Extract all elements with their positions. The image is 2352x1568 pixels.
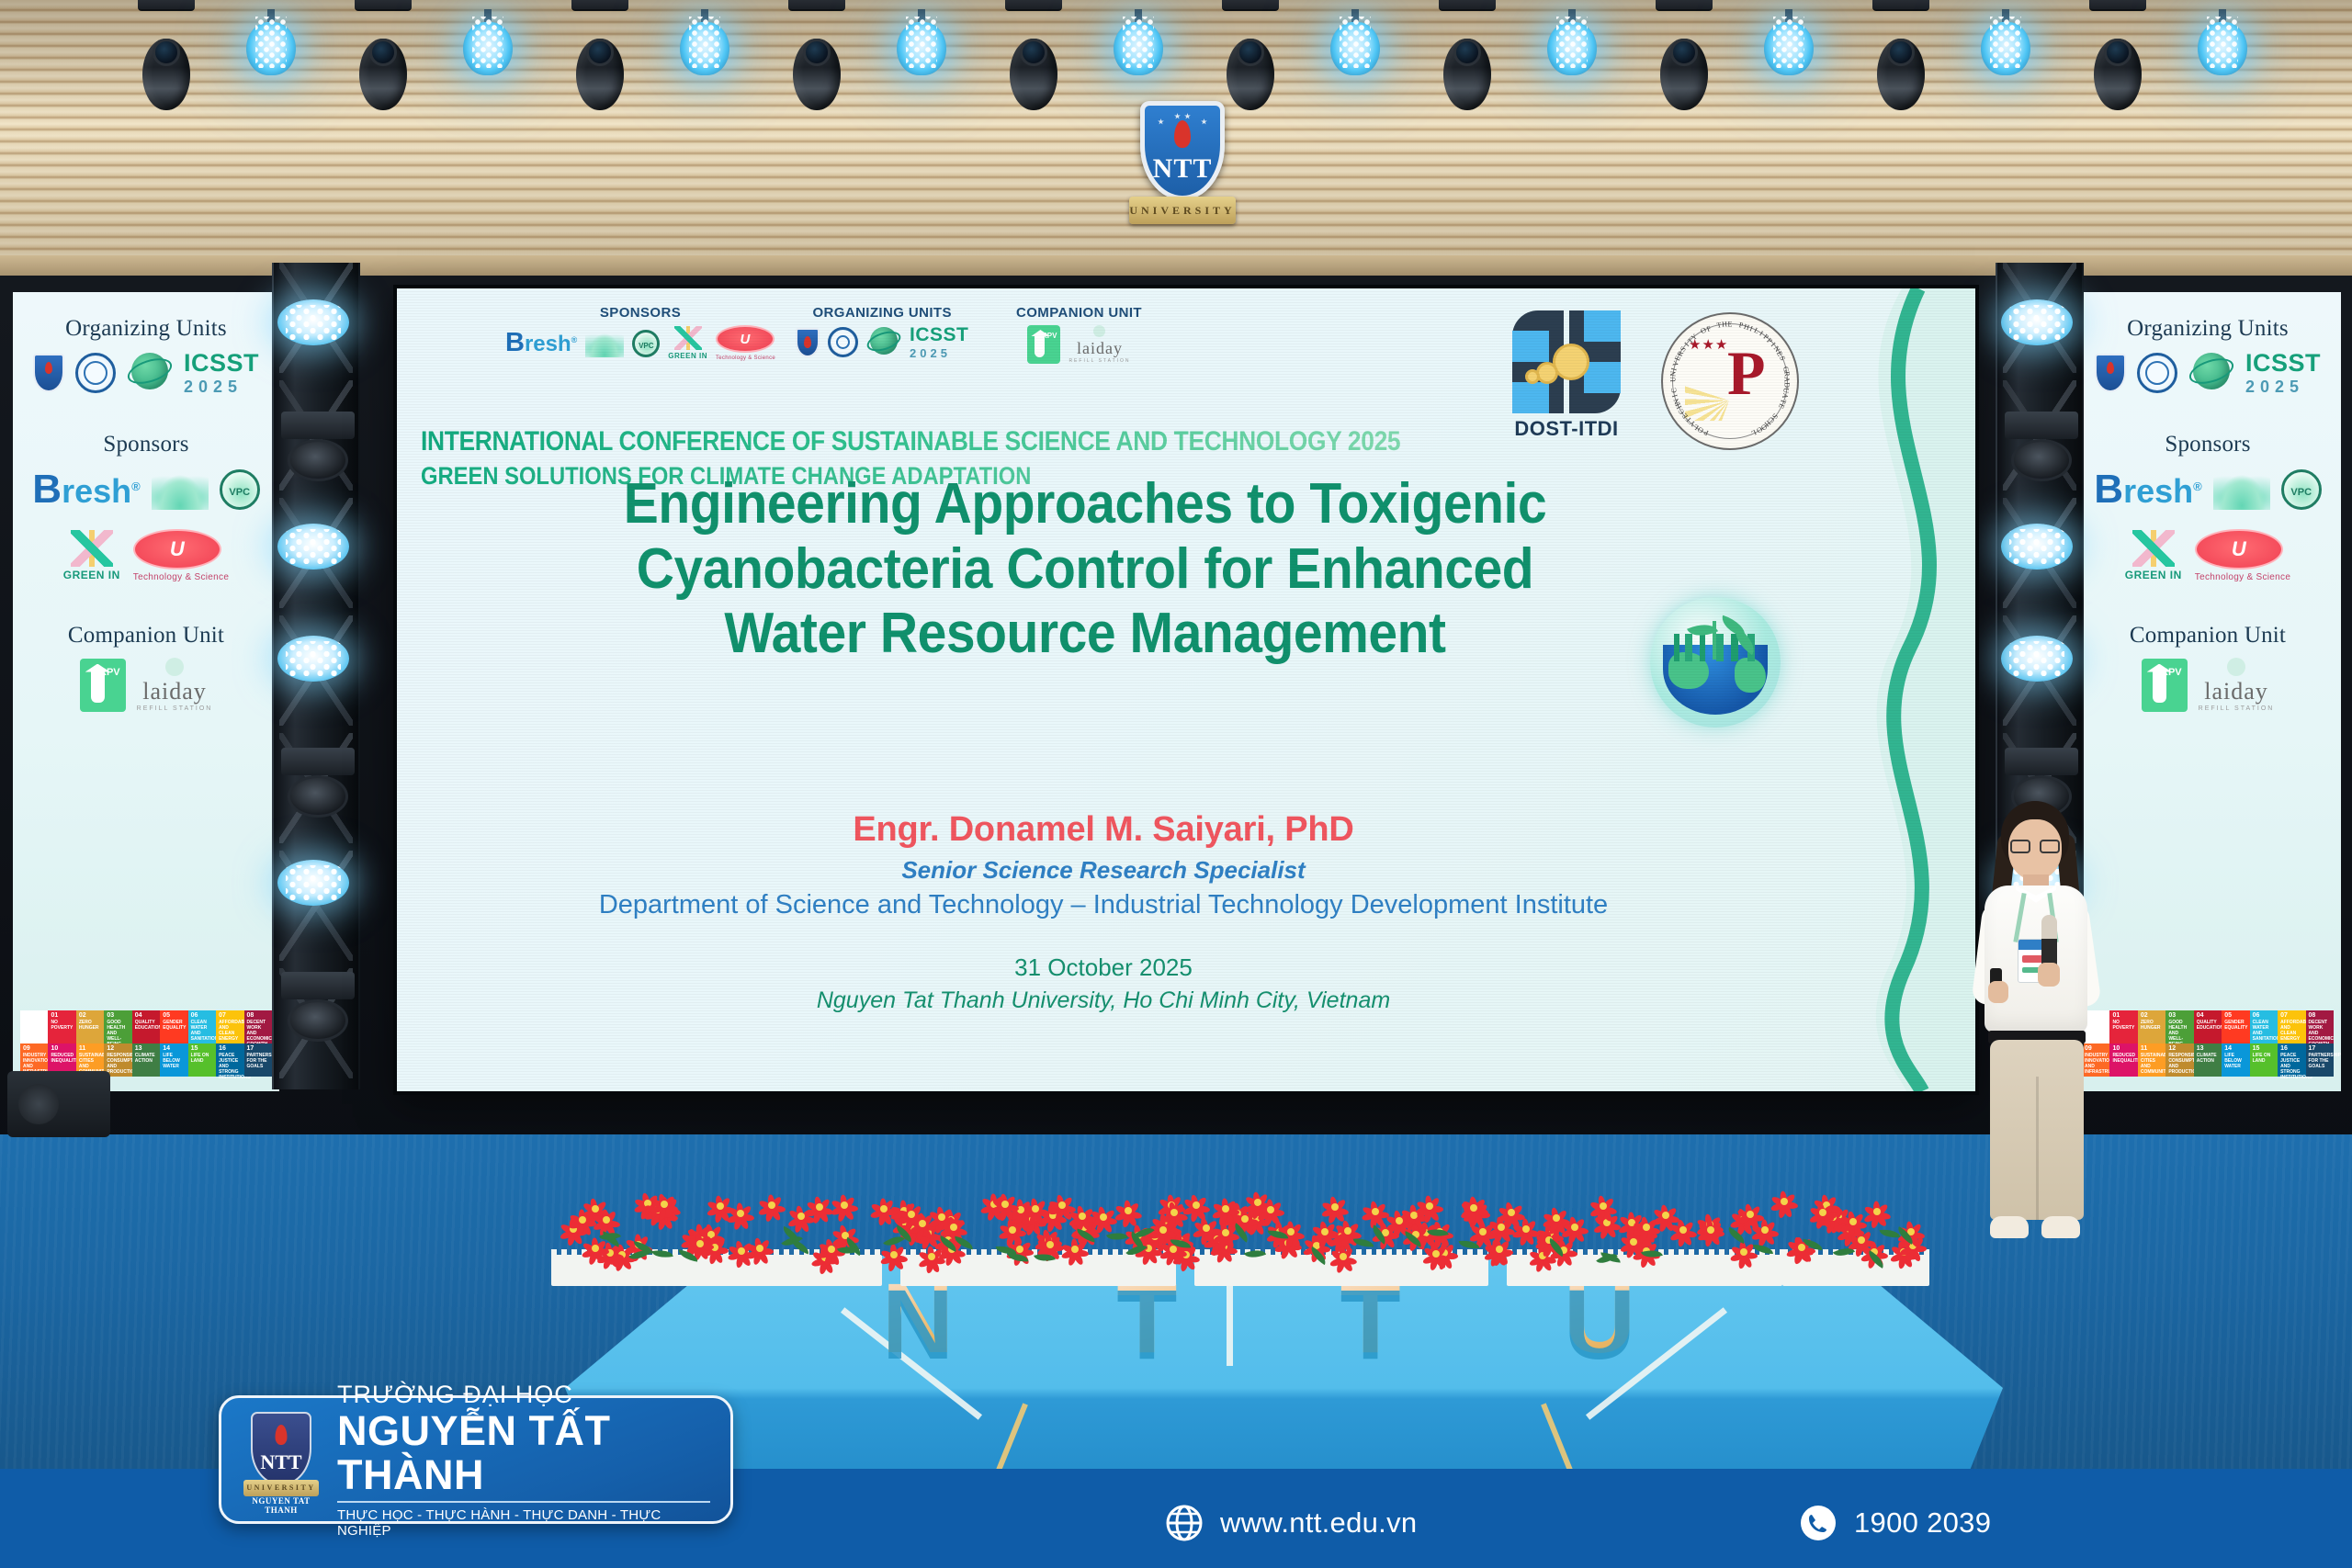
side-heading-companion-r: Companion Unit [2075, 623, 2341, 649]
sdg-goal-tile: 16PEACE JUSTICE AND STRONG INSTITUTIONS [216, 1043, 243, 1077]
vpc-leaf-logo: VPC [632, 330, 660, 357]
sdg-goal-tile: 05GENDER EQUALITY [2222, 1010, 2249, 1043]
flower [1652, 1201, 1679, 1229]
led-presentation-screen: SPONSORS Bresh® VPC GREEN IN U Technolog… [397, 288, 1975, 1091]
ntt-shield-icon: NTT UNIVERSITY NGUYEN TAT THANH [242, 1410, 321, 1509]
sdg-goal-tile: 08DECENT WORK AND ECONOMIC GROWTH [244, 1010, 272, 1043]
icsst-globe-logo [2188, 353, 2234, 393]
sdg-goal-tile: 06CLEAN WATER AND SANITATION [188, 1010, 216, 1043]
glasses-icon [2010, 840, 2060, 853]
moving-head-light [2089, 0, 2146, 110]
shoe-left [1990, 1216, 2029, 1238]
truss-par-light [277, 636, 355, 693]
sdg-goal-tile: 13CLIMATE ACTION [132, 1043, 160, 1077]
flower [1809, 1199, 1837, 1226]
flower [707, 1192, 734, 1220]
dost-itdi-label: DOST-ITDI [1488, 417, 1645, 441]
par-led-light [246, 9, 296, 75]
sdg-goal-tile: 15LIFE ON LAND [2250, 1043, 2278, 1077]
laiday-logo: laiday REFILL STATION [137, 658, 213, 712]
speaker-role: Senior Science Research Specialist [461, 856, 1746, 885]
sdg-goal-tile: 03GOOD HEALTH AND WELL-BEING [2165, 1010, 2193, 1043]
crest-flame-icon [1174, 120, 1191, 148]
par-led-light [1547, 9, 1597, 75]
truss-par-light [2001, 299, 2078, 356]
moving-head-light [788, 0, 845, 110]
flower [1839, 1208, 1867, 1235]
par-led-light [463, 9, 513, 75]
university-motto: THỰC HỌC - THỰC HÀNH - THỰC DANH - THỰC … [337, 1507, 710, 1539]
flower [999, 1216, 1026, 1244]
bresh-logo: Bresh® [32, 467, 140, 513]
sdg-goal-tile: 04QUALITY EDUCATION [2194, 1010, 2222, 1043]
stage-letter: T [1116, 1272, 1177, 1373]
flower [1416, 1192, 1443, 1220]
truss-par-light [277, 524, 355, 581]
moving-head-light [1222, 0, 1279, 110]
viet-nguyen-logo: U Technology & Science [133, 529, 229, 582]
flower [1512, 1215, 1540, 1243]
par-led-light [1764, 9, 1814, 75]
eco-globe-graphic [1650, 597, 1781, 728]
footer-phone[interactable]: 1900 2039 [1799, 1504, 1991, 1542]
par-led-light [1114, 9, 1163, 75]
seal-logo [75, 353, 116, 393]
pup-graduate-school-seal: ★★★ P POLYTECHNIC UNIVERSITY OF THE PHIL… [1661, 312, 1799, 450]
conference-stage-photo: NTT UNIVERSITY Organizing Units ICSST 20… [0, 0, 2352, 1568]
viet-nguyen-logo: U Technology & Science [716, 325, 775, 361]
truss-moving-head-light [281, 972, 355, 1043]
speaker-name: Engr. Donamel M. Saiyari, PhD [461, 810, 1746, 850]
green-in-logo: GREEN IN [63, 530, 120, 581]
phone-label: 1900 2039 [1854, 1506, 1991, 1540]
flower [650, 1190, 678, 1218]
title-line-2: Cyanobacteria Control for Enhanced [511, 537, 1658, 603]
vpc-leaf-logo: VPC [220, 469, 260, 510]
sdg-goal-tile: 02ZERO HUNGER [2138, 1010, 2165, 1043]
flower [1863, 1198, 1891, 1225]
shoe-right [2041, 1216, 2080, 1238]
ntt-wall-crest: NTT UNIVERSITY [1127, 101, 1238, 239]
side-heading-sponsors-r: Sponsors [2075, 432, 2341, 457]
moving-head-light [1656, 0, 1713, 110]
sdg-goal-tile: 07AFFORDABLE AND CLEAN ENERGY [216, 1010, 243, 1043]
sdg-goal-tile: 04QUALITY EDUCATION [132, 1010, 160, 1043]
flower [1311, 1218, 1339, 1246]
sdg-goal-tile: 11SUSTAINABLE CITIES AND COMMUNITIES [2138, 1043, 2165, 1077]
laiday-logo: laiday REFILL STATION [2199, 658, 2275, 712]
flower [991, 1190, 1019, 1218]
bresh-logo: Bresh® [2094, 467, 2201, 513]
viet-nguyen-logo: U Technology & Science [2195, 529, 2290, 582]
university-line-1: TRƯỜNG ĐẠI HỌC [337, 1381, 710, 1409]
moving-head-light [571, 0, 628, 110]
flower [1770, 1188, 1798, 1215]
rpv-logo: RPV [2142, 659, 2188, 712]
dost-itdi-logo: DOST-ITDI [1488, 310, 1645, 441]
sdg-goal-tile: 17PARTNERSHIPS FOR THE GOALS [244, 1043, 272, 1077]
moving-head-light [355, 0, 412, 110]
truss-par-light [2001, 524, 2078, 581]
icsst-year: 2025 [184, 378, 259, 395]
sdg-goal-tile: 06CLEAN WATER AND SANITATION [2250, 1010, 2278, 1043]
stage-monitor-speaker [7, 1038, 118, 1139]
flower [1048, 1191, 1076, 1219]
ceiling-light-rig [0, 0, 2352, 105]
moving-head-light [138, 0, 195, 110]
seal-logo [828, 327, 858, 357]
header-group-companion: COMPANION UNIT RPV laiday REFILL STATION [1016, 305, 1142, 364]
university-line-2: NGUYỄN TẤT THÀNH [337, 1409, 710, 1496]
green-in-logo: GREEN IN [668, 326, 707, 360]
flower [880, 1241, 908, 1269]
flower [1160, 1199, 1188, 1226]
bresh-logo: Bresh® [505, 328, 577, 358]
title-line-3: Water Resource Management [511, 602, 1658, 667]
side-heading-organizing: Organizing Units [13, 316, 279, 342]
truss-moving-head-light [281, 748, 355, 819]
website-label: www.ntt.edu.vn [1220, 1506, 1417, 1540]
nttu-stage-letters: NTTU [882, 1272, 1635, 1373]
seal-ring-text: POLYTECHNIC UNIVERSITY OF THE PHILIPPINE… [1661, 312, 1799, 450]
gear-icon [1536, 362, 1558, 384]
flower [1321, 1193, 1349, 1221]
flower [1736, 1201, 1764, 1228]
flower [1329, 1243, 1357, 1270]
flower [1061, 1235, 1089, 1263]
flower [593, 1206, 620, 1234]
flower [1589, 1192, 1617, 1220]
lighting-truss-left [272, 263, 360, 1089]
flower [787, 1202, 815, 1230]
flower [1257, 1196, 1284, 1224]
side-banner-left: Organizing Units ICSST 2025 Sponsors Bre… [13, 292, 279, 1091]
crest-shield-icon: NTT [1140, 101, 1225, 200]
presenter-person [1950, 801, 2124, 1260]
event-venue: Nguyen Tat Thanh University, Ho Chi Minh… [461, 987, 1746, 1014]
side-heading-organizing-r: Organizing Units [2075, 316, 2341, 342]
icsst-globe-logo [866, 327, 901, 358]
flower [1697, 1216, 1724, 1244]
lotus-logo [585, 330, 624, 357]
sdg-goal-tile: 17PARTNERSHIPS FOR THE GOALS [2306, 1043, 2334, 1077]
event-date: 31 October 2025 [461, 953, 1746, 982]
flower [1212, 1195, 1239, 1223]
vpc-leaf-logo: VPC [2281, 469, 2322, 510]
globe-icon [1165, 1504, 1204, 1542]
par-led-light [897, 9, 946, 75]
speaker-info-block: Engr. Donamel M. Saiyari, PhD Senior Sci… [461, 810, 1746, 1014]
stage-letter: U [1564, 1272, 1635, 1373]
phone-icon [1799, 1504, 1837, 1542]
moving-head-light [1439, 0, 1496, 110]
par-led-light [1330, 9, 1380, 75]
sdg-goal-tile: 15LIFE ON LAND [188, 1043, 216, 1077]
crest-banner: UNIVERSITY [1129, 197, 1236, 224]
side-heading-sponsors: Sponsors [13, 432, 279, 457]
header-group-sponsors: SPONSORS Bresh® VPC GREEN IN U Technolog… [505, 305, 775, 361]
moving-head-light [1005, 0, 1062, 110]
icsst-year: 2025 [2245, 378, 2321, 395]
flower [831, 1191, 858, 1219]
icsst-globe-logo [127, 353, 173, 393]
speaker-org: Department of Science and Technology – I… [461, 890, 1746, 920]
par-led-light [1981, 9, 2030, 75]
sdg-goal-tile: 07AFFORDABLE AND CLEAN ENERGY [2278, 1010, 2305, 1043]
ntt-shield-logo [796, 328, 820, 357]
gear-icon [1553, 344, 1589, 380]
green-in-logo: GREEN IN [2125, 530, 2182, 581]
slide-main-title: Engineering Approaches to Toxigenic Cyan… [511, 472, 1658, 667]
lotus-logo [2213, 469, 2270, 510]
rpv-logo: RPV [80, 659, 126, 712]
truss-moving-head-light [2005, 412, 2078, 483]
title-line-1: Engineering Approaches to Toxigenic [511, 472, 1658, 537]
rpv-logo: RPV [1027, 325, 1060, 364]
stage-letter: N [882, 1272, 954, 1373]
ntt-shield-logo [2095, 354, 2126, 392]
laiday-logo: laiday REFILL STATION [1069, 325, 1130, 364]
truss-moving-head-light [281, 412, 355, 483]
sdg-goal-tile: 12RESPONSIBLE CONSUMPTION AND PRODUCTION [2165, 1043, 2193, 1077]
icsst-name: ICSST [2245, 351, 2321, 376]
stage-letter: T [1340, 1272, 1401, 1373]
side-heading-companion: Companion Unit [13, 623, 279, 649]
flower [728, 1237, 755, 1265]
crest-letters: NTT [1145, 153, 1220, 185]
sdg-goal-tile: 13CLIMATE ACTION [2194, 1043, 2222, 1077]
university-logo-card: NTT UNIVERSITY NGUYEN TAT THANH TRƯỜNG Đ… [219, 1395, 733, 1524]
sdg-goal-tile: 08DECENT WORK AND ECONOMIC GROWTH [2306, 1010, 2334, 1043]
truss-par-light [277, 860, 355, 917]
par-led-light [680, 9, 729, 75]
seal-logo [2137, 353, 2177, 393]
sdg-goal-tile: 14LIFE BELOW WATER [2222, 1043, 2249, 1077]
truss-par-light [277, 299, 355, 356]
lotus-logo [152, 469, 209, 510]
flower [758, 1191, 786, 1219]
par-led-light [2198, 9, 2247, 75]
icsst-name: ICSST [184, 351, 259, 376]
ntt-shield-logo [33, 354, 64, 392]
flower [928, 1203, 955, 1231]
gear-icon [1525, 369, 1540, 384]
conference-line-1: INTERNATIONAL CONFERENCE OF SUSTAINABLE … [421, 426, 1400, 457]
footer-website[interactable]: www.ntt.edu.vn [1165, 1504, 1417, 1542]
sdg-goal-tile: 16PEACE JUSTICE AND STRONG INSTITUTIONS [2278, 1043, 2305, 1077]
sdg-goal-tile: 14LIFE BELOW WATER [160, 1043, 187, 1077]
header-group-organizing: ORGANIZING UNITS ICSST 2025 [796, 305, 968, 359]
flower-arrangement [551, 1167, 1929, 1286]
truss-par-light [2001, 636, 2078, 693]
sdg-goal-tile: 05GENDER EQUALITY [160, 1010, 187, 1043]
flower [569, 1206, 596, 1234]
moving-head-light [1872, 0, 1929, 110]
